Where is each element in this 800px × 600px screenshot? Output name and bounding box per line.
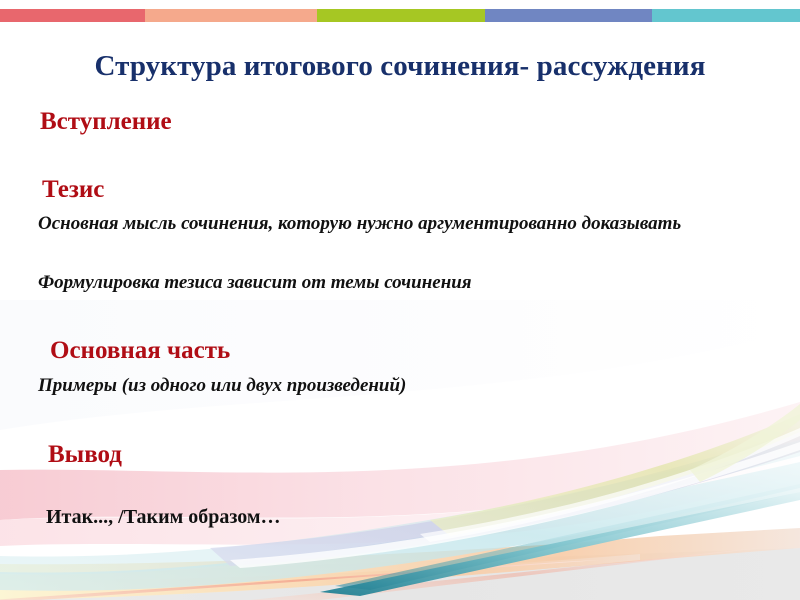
section-heading-thesis: Тезис xyxy=(42,176,104,204)
topbar-segment-slate-blue xyxy=(485,9,652,22)
thesis-description-line-2: Формулировка тезиса зависит от темы сочи… xyxy=(38,272,778,293)
section-heading-intro: Вступление xyxy=(40,108,172,136)
section-heading-conclusion: Вывод xyxy=(48,441,122,469)
topbar-segment-teal xyxy=(652,9,800,22)
thesis-description-line-1: Основная мысль сочинения, которую нужно … xyxy=(38,213,778,234)
topbar-segment-lime-green xyxy=(317,9,485,22)
conclusion-description-line-1: Итак..., /Таким образом… xyxy=(46,506,646,528)
topbar-segment-coral-red xyxy=(0,9,145,22)
top-color-bar xyxy=(0,9,800,22)
slide-canvas: Структура итогового сочинения- рассужден… xyxy=(0,0,800,600)
section-heading-main-part: Основная часть xyxy=(50,337,230,365)
topbar-segment-light-salmon xyxy=(145,9,317,22)
slide-content: Структура итогового сочинения- рассужден… xyxy=(0,0,800,600)
page-title: Структура итогового сочинения- рассужден… xyxy=(0,50,800,83)
main-part-description-line-1: Примеры (из одного или двух произведений… xyxy=(38,375,738,396)
